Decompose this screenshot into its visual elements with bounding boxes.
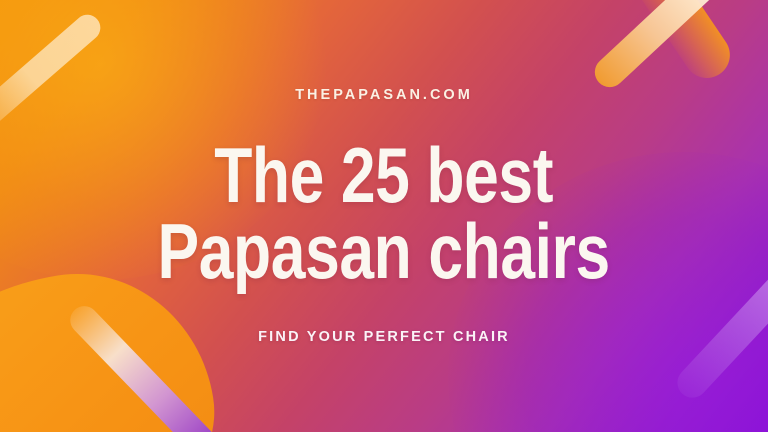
tagline: FIND YOUR PERFECT CHAIR — [258, 329, 510, 345]
promo-banner: THEPAPASAN.COM The 25 best Papasan chair… — [0, 0, 768, 432]
site-name-eyebrow: THEPAPASAN.COM — [295, 87, 473, 103]
page-title: The 25 best Papasan chairs — [158, 137, 610, 290]
headline-line-1: The 25 best — [158, 137, 610, 213]
banner-content: THEPAPASAN.COM The 25 best Papasan chair… — [0, 0, 768, 432]
headline-line-2: Papasan chairs — [158, 213, 610, 289]
